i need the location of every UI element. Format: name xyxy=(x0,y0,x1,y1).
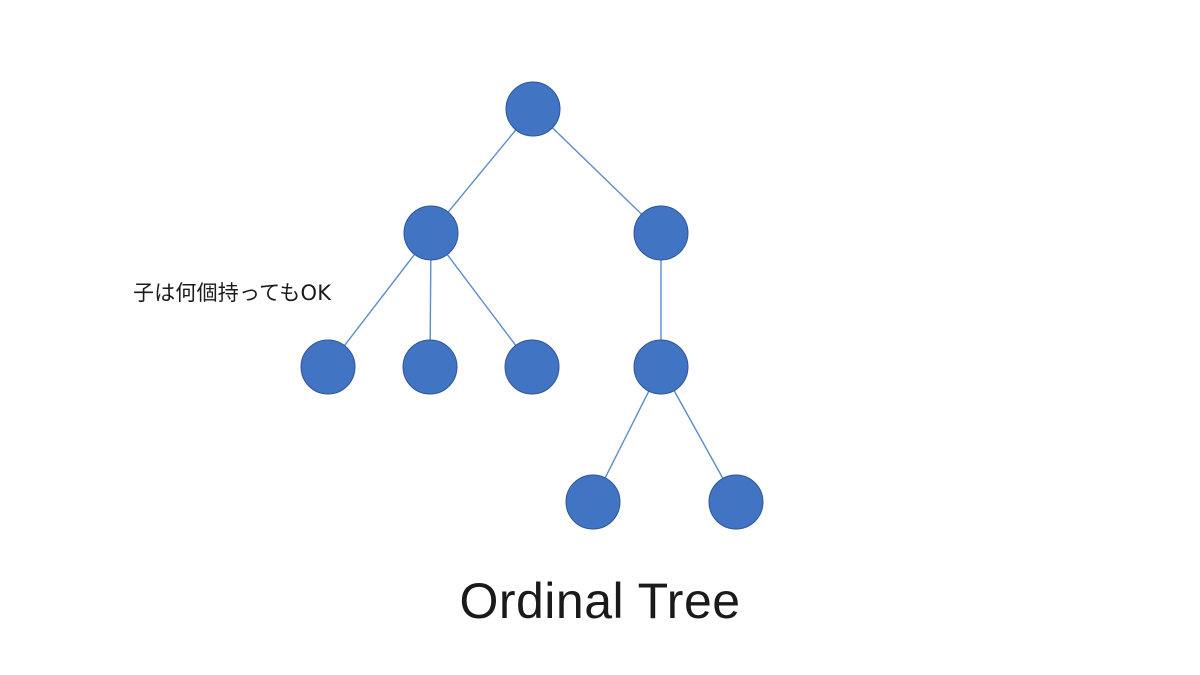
tree-edge xyxy=(447,128,517,213)
tree-edge xyxy=(673,389,724,480)
tree-node[interactable] xyxy=(404,206,458,260)
tree-node[interactable] xyxy=(634,340,688,394)
tree-node[interactable] xyxy=(506,82,560,136)
tree-node[interactable] xyxy=(301,340,355,394)
tree-node[interactable] xyxy=(634,206,688,260)
tree-node[interactable] xyxy=(709,475,763,529)
tree-edge xyxy=(551,126,643,215)
slide-canvas: 子は何個持ってもOK Ordinal Tree xyxy=(0,0,1200,675)
tree-edge-layer xyxy=(343,126,724,480)
tree-node[interactable] xyxy=(566,475,620,529)
page-title: Ordinal Tree xyxy=(0,576,1200,626)
tree-node-layer xyxy=(301,82,763,529)
tree-edge xyxy=(343,253,416,347)
tree-edge xyxy=(604,389,650,479)
annotation-label: 子は何個持ってもOK xyxy=(133,283,331,304)
tree-edge xyxy=(430,258,431,342)
tree-node[interactable] xyxy=(403,340,457,394)
tree-edge xyxy=(446,253,517,347)
tree-node[interactable] xyxy=(505,340,559,394)
